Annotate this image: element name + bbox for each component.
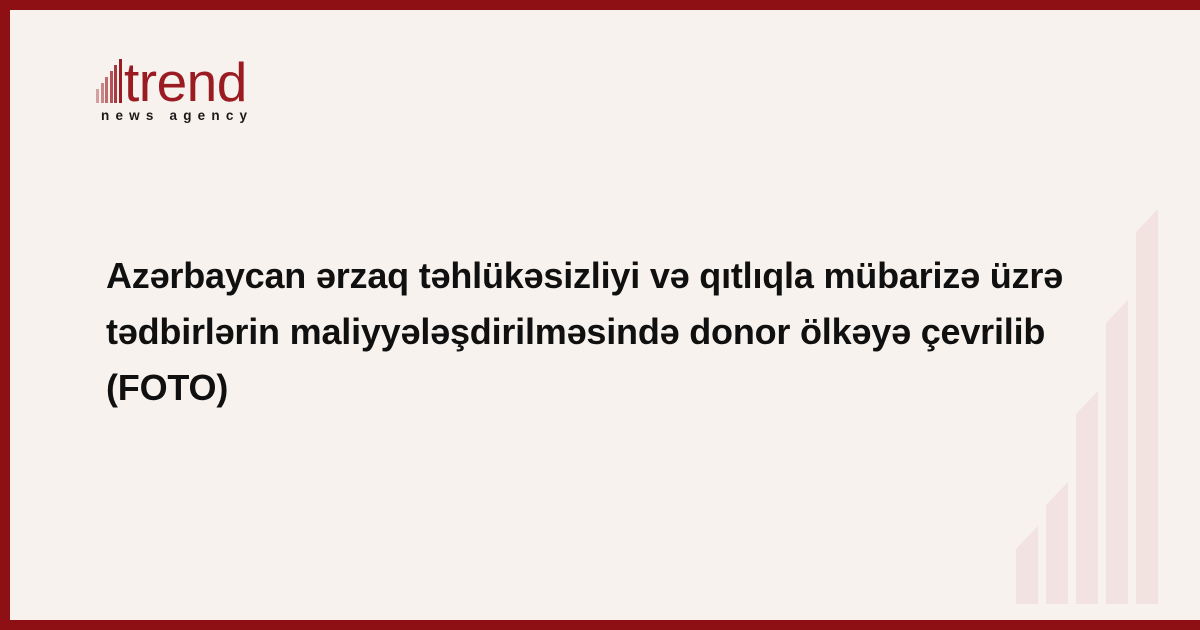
logo-ascending-bars-icon [96,55,123,104]
headline-title: Azərbaycan ərzaq təhlükəsizliyi və qıtlı… [106,248,1066,416]
trend-news-agency-logo[interactable]: trend news agency [96,48,356,134]
social-share-card: trend news agency Azərbaycan ərzaq təhlü… [0,0,1200,630]
logo-wordmark: trend [124,58,247,106]
card-inner-surface: trend news agency Azərbaycan ərzaq təhlü… [10,10,1200,620]
logo-mark: trend [96,48,356,104]
